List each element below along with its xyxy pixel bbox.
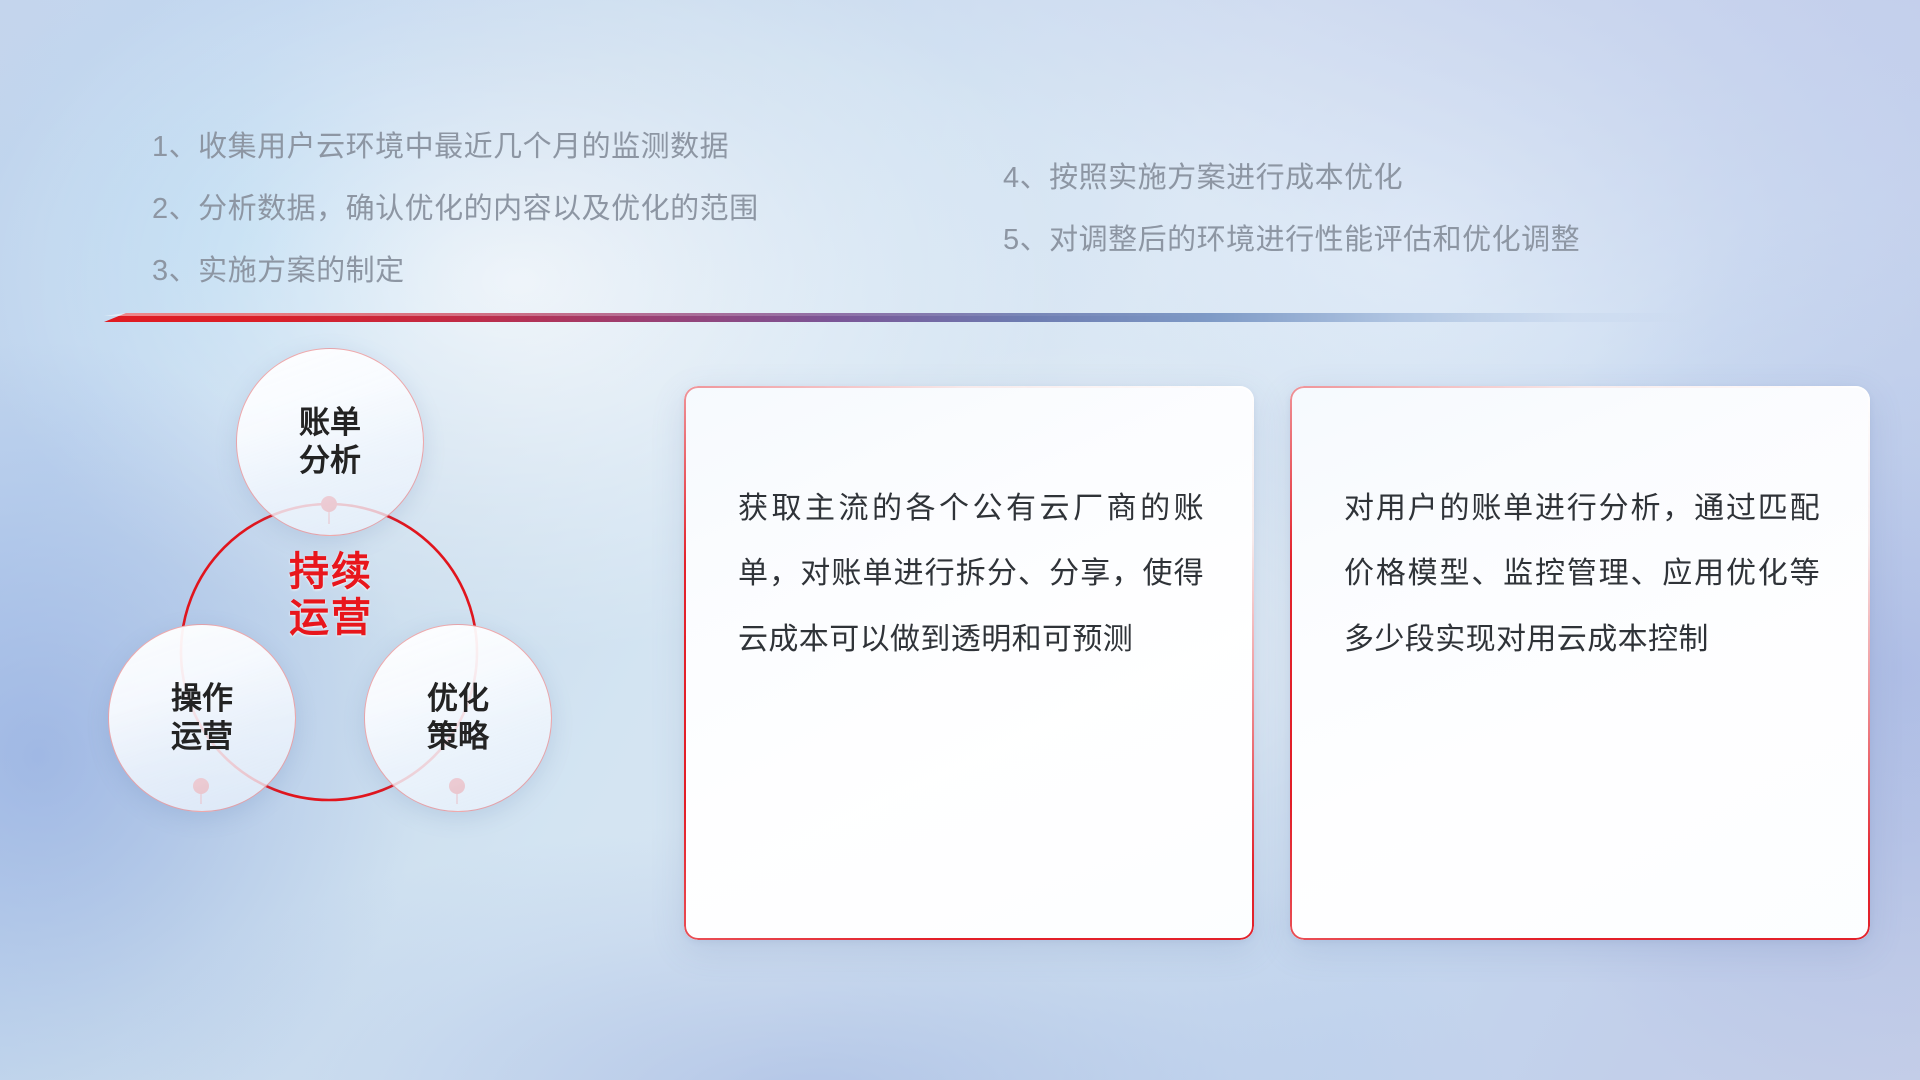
step-item-5: 5、对调整后的环境进行性能评估和优化调整 — [1003, 216, 1580, 258]
divider-highlight — [104, 313, 1210, 316]
step-list: 1、收集用户云环境中最近几个月的监测数据 2、分析数据，确认优化的内容以及优化的… — [0, 0, 1920, 300]
lobe-bl-line1: 操作 — [171, 680, 233, 718]
section-divider — [104, 313, 1684, 322]
lobe-top-line1: 账单 — [299, 404, 361, 442]
diagram-lobe-bill-analysis[interactable]: 账单 分析 — [236, 348, 424, 536]
center-label-line2: 运营 — [289, 596, 373, 642]
lobe-br-line2: 策略 — [427, 718, 489, 756]
continuous-operation-diagram: 账单 分析 操作 运营 优化 策略 持续 运营 — [96, 352, 656, 944]
card-2-body: 对用户的账单进行分析，通过匹配价格模型、监控管理、应用优化等多少段实现对用云成本… — [1344, 476, 1820, 672]
step-item-4: 4、按照实施方案进行成本优化 — [1003, 154, 1403, 196]
card-1-body: 获取主流的各个公有云厂商的账单，对账单进行拆分、分享，使得云成本可以做到透明和可… — [738, 476, 1204, 672]
lobe-bl-line2: 运营 — [171, 718, 233, 756]
card-multi-cloud-billing-platform[interactable]: 获取主流的各个公有云厂商的账单，对账单进行拆分、分享，使得云成本可以做到透明和可… — [684, 386, 1254, 940]
step-item-3: 3、实施方案的制定 — [152, 247, 405, 289]
lobe-top-line2: 分析 — [299, 442, 361, 480]
step-item-1: 1、收集用户云环境中最近几个月的监测数据 — [152, 123, 729, 165]
center-label-line1: 持续 — [289, 550, 373, 596]
card-cloud-cost-optimization[interactable]: 对用户的账单进行分析，通过匹配价格模型、监控管理、应用优化等多少段实现对用云成本… — [1290, 386, 1870, 940]
lobe-br-line1: 优化 — [427, 680, 489, 718]
diagram-center-label: 持续 运营 — [246, 536, 416, 656]
step-item-2: 2、分析数据，确认优化的内容以及优化的范围 — [152, 185, 759, 227]
